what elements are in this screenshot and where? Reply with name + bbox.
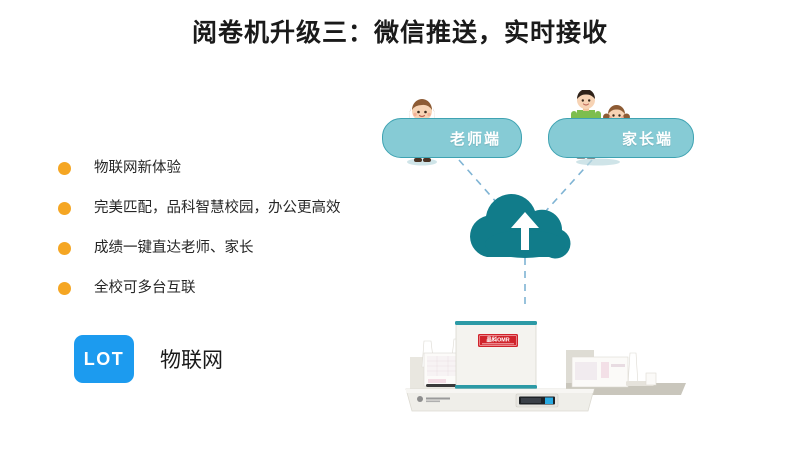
- scanner-head: [456, 323, 536, 389]
- control-display: [516, 394, 558, 407]
- bullet-text: 成绩一键直达老师、家长: [94, 238, 254, 258]
- bullet-dot-icon: [58, 162, 71, 175]
- pill-teacher-client[interactable]: 老师端: [382, 118, 522, 158]
- slide-canvas: 阅卷机升级三：微信推送，实时接收 物联网新体验 完美匹配，品科智慧校园，办公更高…: [0, 0, 800, 462]
- display-indicator: [545, 398, 553, 405]
- list-item: 完美匹配，品科智慧校园，办公更高效: [58, 188, 398, 228]
- bullet-text: 全校可多台互联: [94, 278, 196, 298]
- omr-scanner-illustration: 晶科OMR: [398, 305, 698, 420]
- bullet-list: 物联网新体验 完美匹配，品科智慧校园，办公更高效 成绩一键直达老师、家长 全校可…: [58, 148, 398, 308]
- svg-text:晶科OMR: 晶科OMR: [486, 335, 509, 343]
- connector-parent-to-cloud: [545, 160, 592, 212]
- pill-parent-client[interactable]: 家长端: [548, 118, 694, 158]
- output-sheets: [572, 357, 628, 387]
- list-item: 物联网新体验: [58, 148, 398, 188]
- bullet-dot-icon: [58, 282, 71, 295]
- bullet-dot-icon: [58, 242, 71, 255]
- list-item: 成绩一键直达老师、家长: [58, 228, 398, 268]
- list-item: 全校可多台互联: [58, 268, 398, 308]
- connector-teacher-to-cloud: [459, 160, 505, 212]
- cloud-icon: [470, 194, 570, 258]
- bullet-text: 完美匹配，品科智慧校园，办公更高效: [94, 198, 341, 218]
- iot-label: 物联网: [160, 344, 223, 374]
- bullet-dot-icon: [58, 202, 71, 215]
- up-arrow-icon: [511, 212, 539, 250]
- iot-badge: LOT: [74, 335, 134, 383]
- brand-label: 晶科OMR: [478, 334, 518, 347]
- page-title: 阅卷机升级三：微信推送，实时接收: [0, 16, 800, 50]
- bullet-text: 物联网新体验: [94, 158, 181, 178]
- iot-badge-group: LOT 物联网: [74, 335, 223, 383]
- pill-parent-label: 家长端: [622, 128, 673, 149]
- pill-teacher-label: 老师端: [450, 128, 501, 149]
